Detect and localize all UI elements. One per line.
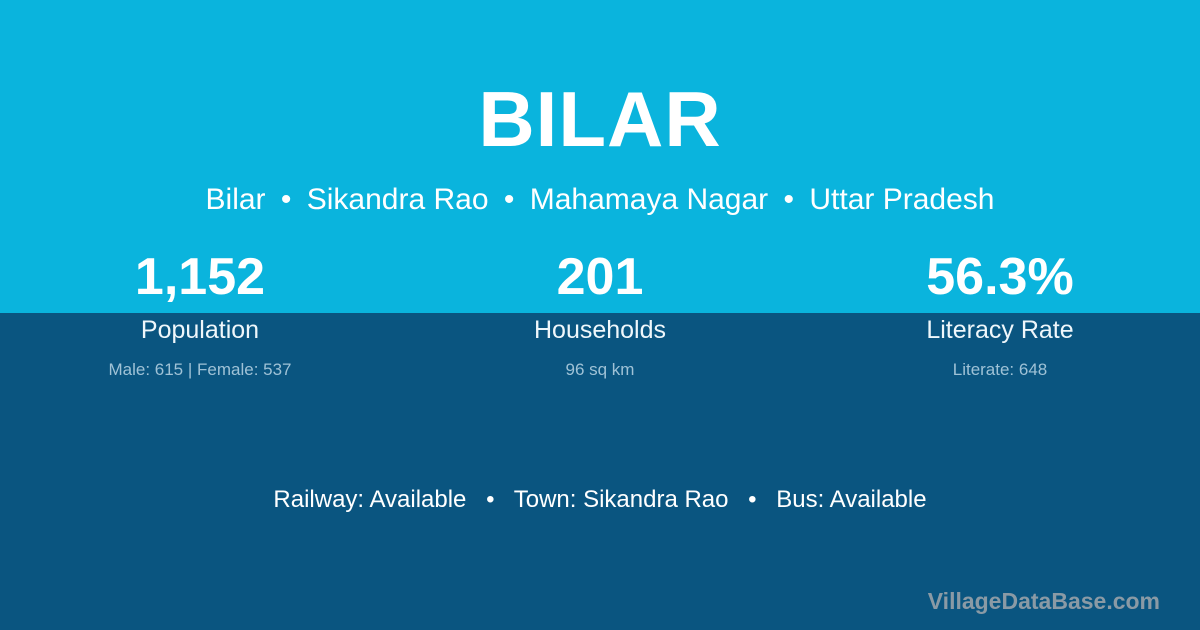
- breadcrumb-separator-icon: •: [274, 180, 299, 219]
- stat-population: 1,152 Population Male: 615 | Female: 537: [0, 246, 400, 382]
- facility-line: Railway: Available • Town: Sikandra Rao …: [0, 485, 1200, 515]
- stat-households-value: 201: [400, 246, 800, 308]
- facility-railway: Railway: Available: [273, 486, 466, 513]
- site-watermark: VillageDataBase.com: [928, 587, 1160, 615]
- breadcrumb-item-district[interactable]: Mahamaya Nagar: [530, 183, 768, 216]
- stat-literacy-label: Literacy Rate: [800, 313, 1200, 347]
- stat-population-breakdown: Male: 615 | Female: 537: [0, 358, 400, 382]
- village-info-card: BILAR Bilar • Sikandra Rao • Mahamaya Na…: [0, 0, 1200, 630]
- breadcrumb-item-village[interactable]: Bilar: [206, 183, 266, 216]
- stat-literacy-count: Literate: 648: [800, 358, 1200, 382]
- breadcrumb-item-state[interactable]: Uttar Pradesh: [809, 183, 994, 216]
- stat-literacy: 56.3% Literacy Rate Literate: 648: [800, 246, 1200, 382]
- breadcrumb-separator-icon: •: [777, 180, 802, 219]
- stat-literacy-value: 56.3%: [800, 246, 1200, 308]
- stat-population-label: Population: [0, 313, 400, 347]
- stat-population-value: 1,152: [0, 246, 400, 308]
- stats-row: 1,152 Population Male: 615 | Female: 537…: [0, 246, 1200, 382]
- facility-separator-icon: •: [735, 485, 769, 515]
- facility-separator-icon: •: [473, 485, 507, 515]
- breadcrumb-item-block[interactable]: Sikandra Rao: [307, 183, 489, 216]
- stat-households-label: Households: [400, 313, 800, 347]
- breadcrumb-separator-icon: •: [497, 180, 522, 219]
- stat-households: 201 Households 96 sq km: [400, 246, 800, 382]
- facility-town: Town: Sikandra Rao: [514, 486, 729, 513]
- stat-households-area: 96 sq km: [400, 358, 800, 382]
- facility-bus: Bus: Available: [776, 486, 926, 513]
- breadcrumb: Bilar • Sikandra Rao • Mahamaya Nagar • …: [0, 180, 1200, 219]
- page-title: BILAR: [0, 80, 1200, 158]
